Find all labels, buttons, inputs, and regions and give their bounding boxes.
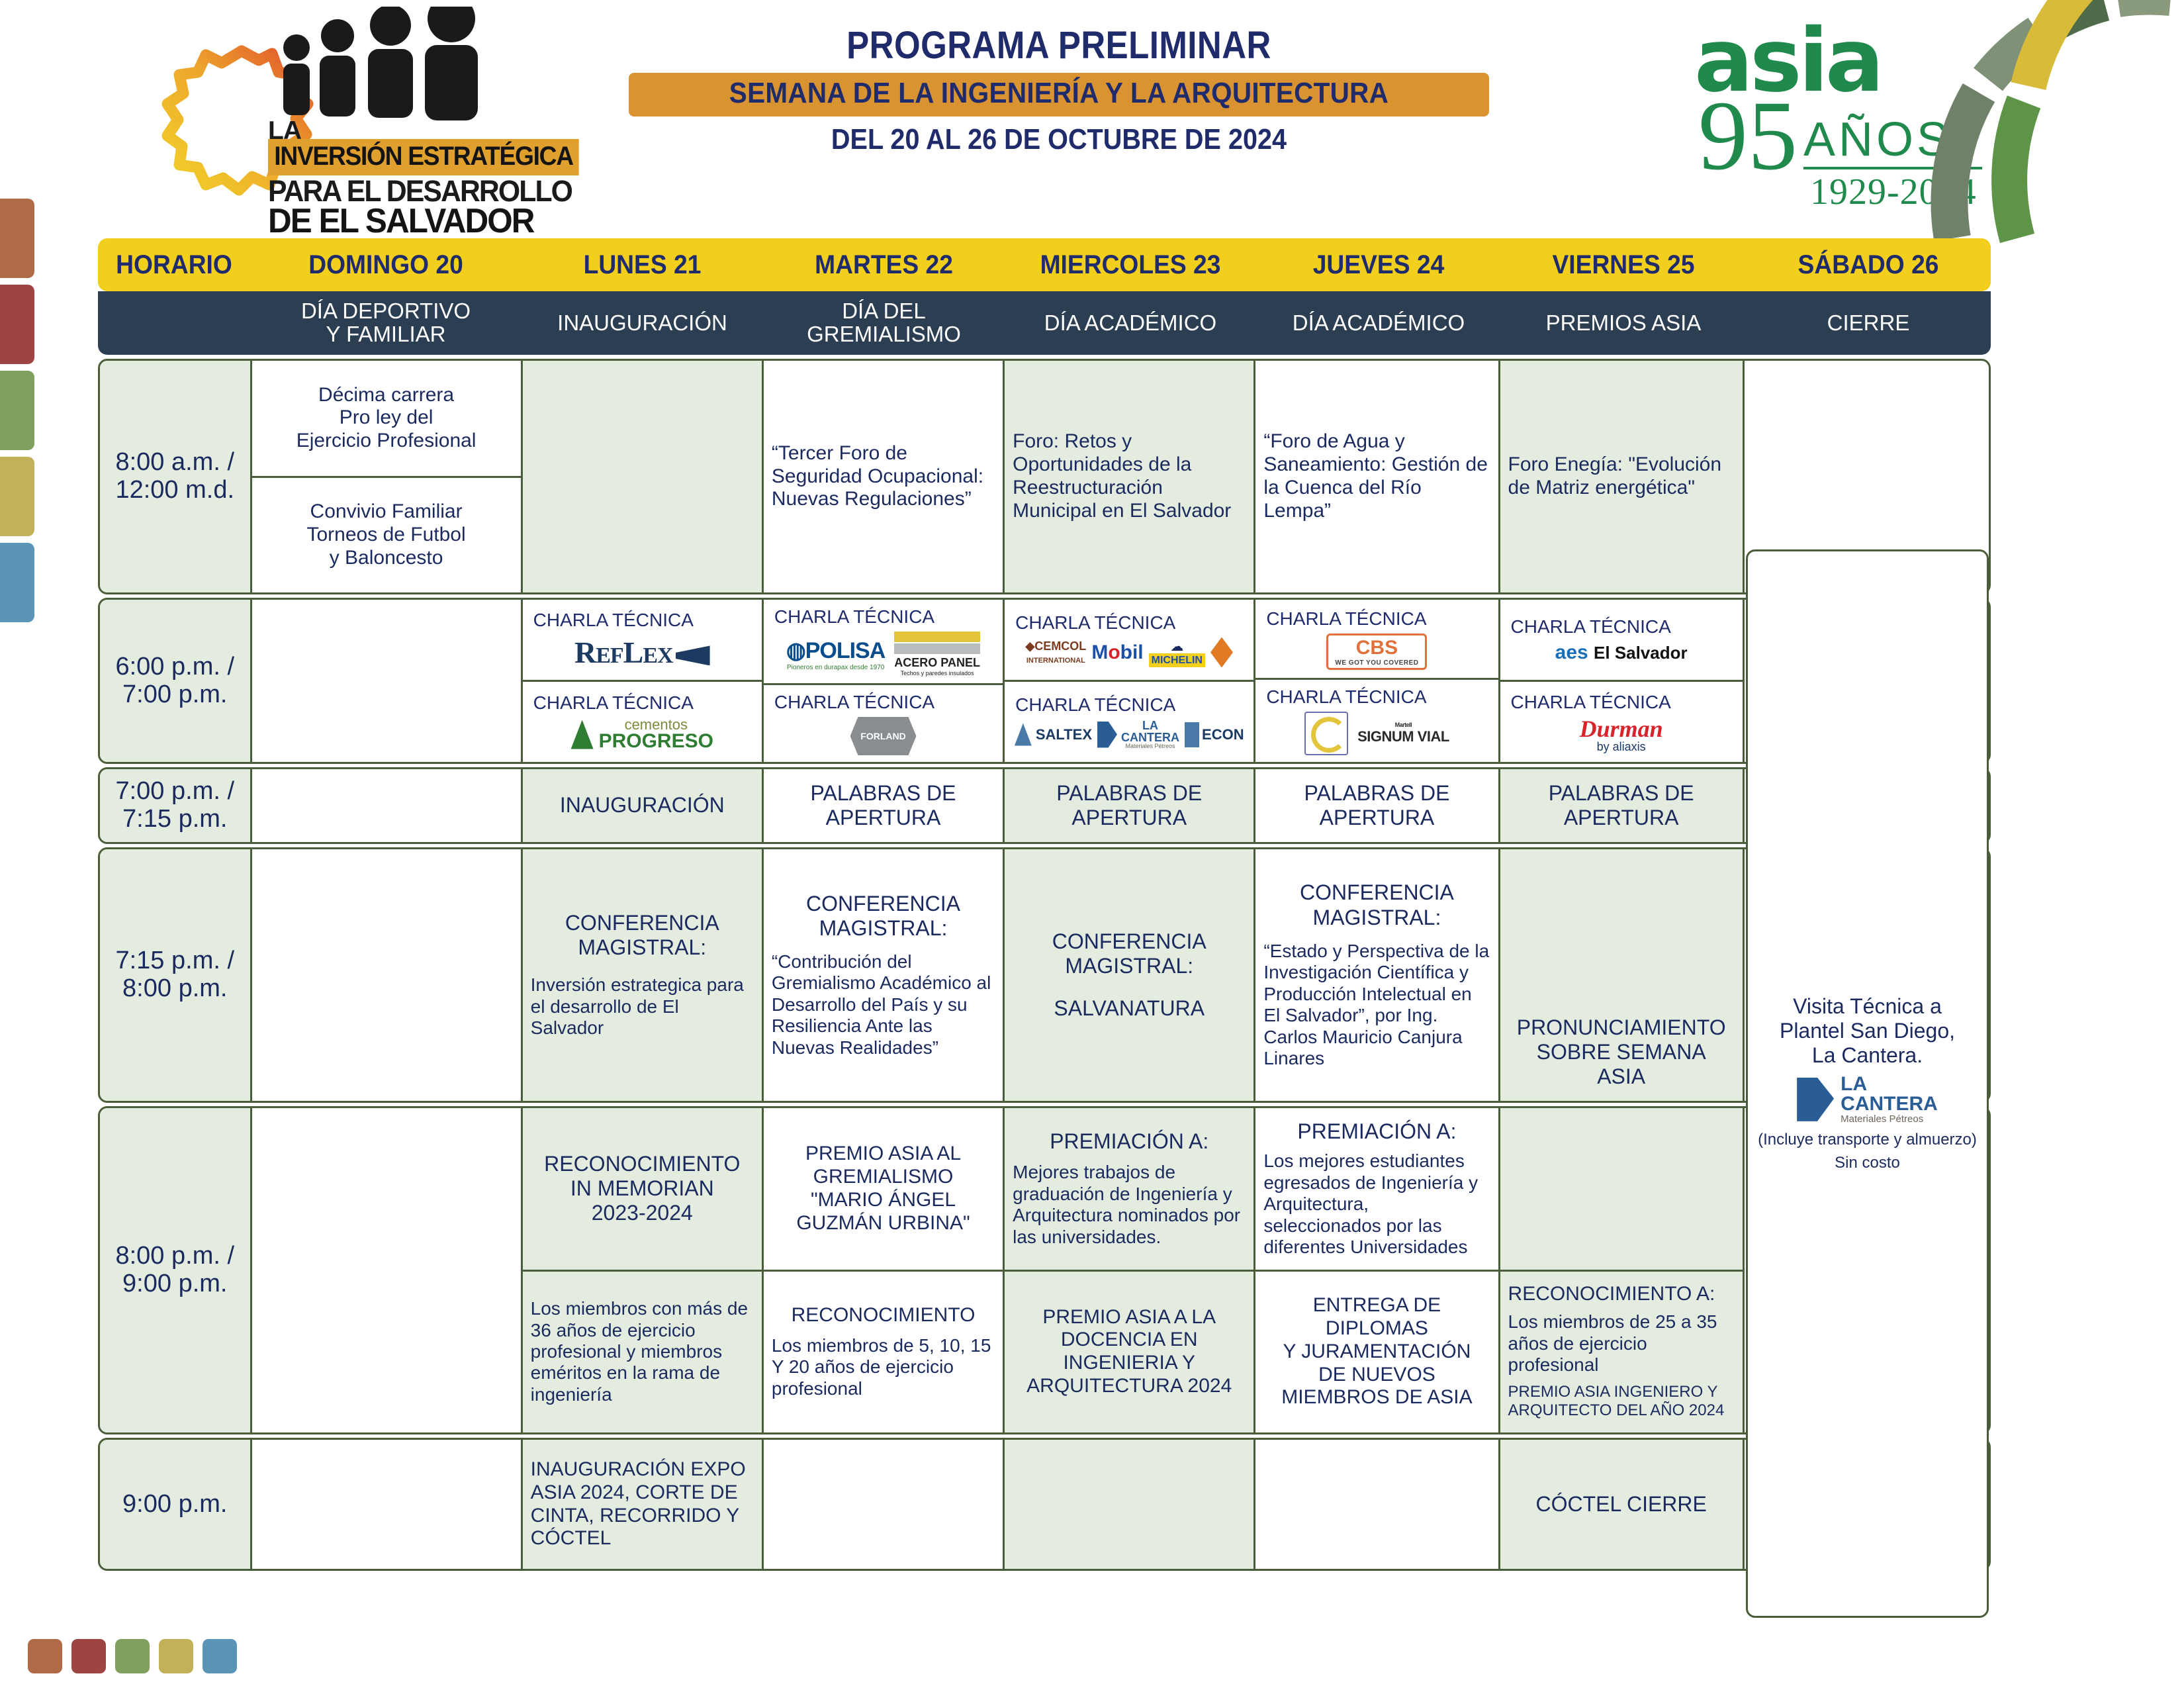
sponsor-logo-michelin: ☁MICHELIN [1149,638,1205,667]
row1-viernes: Foro Enegía: "Evolución de Matriz energé… [1500,361,1745,592]
bottom-swatch-4 [159,1639,193,1673]
row2-lunes-bottom: CHARLA TÉCNICA cementosPROGRESO [523,682,762,762]
sabado-merged-cell: Visita Técnica a Plantel San Diego, La C… [1746,549,1989,1618]
row2-viernes: CHARLA TÉCNICA aes El Salvador CHARLA TÉ… [1500,600,1745,762]
row5-viernes: RECONOCIMIENTO A: Los miembros de 25 a 3… [1500,1108,1745,1432]
col-header-horario: HORARIO [103,250,245,280]
charla-tecnica-label: CHARLA TÉCNICA [1508,616,1735,637]
time-label-row6: 9:00 p.m. [100,1440,252,1569]
row3-miercoles: PALABRAS DEAPERTURA [1005,769,1255,842]
row5-jueves-bottom: ENTREGA DEDIPLOMASY JURAMENTACIÓNDE NUEV… [1255,1272,1498,1433]
row1-martes: “Tercer Foro de Seguridad Ocupacional: N… [764,361,1005,592]
header-subtitle-bar: SEMANA DE LA INGENIERÍA Y LA ARQUITECTUR… [629,73,1489,117]
row5-martes: PREMIO ASIA ALGREMIALISMO"MARIO ÁNGELGUZ… [764,1108,1005,1432]
sabado-note-1: (Incluye transporte y almuerzo) [1758,1131,1977,1150]
table-row: 9:00 p.m. INAUGURACIÓN EXPO ASIA 2024, C… [98,1438,1991,1571]
sponsor-logo-aes-el-salvador: aes El Salvador [1555,641,1688,664]
sponsor-logo-econ: ECON [1185,722,1244,747]
charla-tecnica-label: CHARLA TÉCNICA [772,606,995,628]
row5-jueves-top: PREMIACIÓN A: Los mejores estudiantes eg… [1255,1108,1498,1272]
row4-miercoles: CONFERENCIAMAGISTRAL: SALVANATURA [1005,849,1255,1101]
sabado-note-2: Sin costo [1835,1154,1900,1173]
time-label-row4: 7:15 p.m. /8:00 p.m. [100,849,252,1101]
row5-viernes-top [1500,1108,1743,1272]
theme-viernes: PREMIOS ASIA [1501,312,1746,335]
row3-martes-cell: PALABRAS DEAPERTURA [764,769,1003,842]
sponsor-logo-la-cantera-large: LACANTERAMateriales Pétreos [1797,1074,1938,1124]
row5-jueves: PREMIACIÓN A: Los mejores estudiantes eg… [1255,1108,1500,1432]
time-label-row5: 8:00 p.m. /9:00 p.m. [100,1108,252,1432]
table-row: 7:15 p.m. /8:00 p.m. CONFERENCIAMAGISTRA… [98,847,1991,1103]
table-row: 8:00 a.m. /12:00 m.d. Décima carreraPro … [98,359,1991,594]
theme-sabado: CIERRE [1746,312,1991,335]
sponsor-logo-durman: Durmanby aliaxis [1580,717,1663,753]
row2-lunes: CHARLA TÉCNICA REFLEX CHARLA TÉCNICA cem… [523,600,764,762]
sponsor-logo-reflex: REFLEX [531,635,754,670]
header-dates: DEL 20 AL 26 DE OCTUBRE DE 2024 [672,123,1446,156]
left-color-strip [0,199,34,622]
row5-miercoles-top: PREMIACIÓN A: Mejores trabajos de gradua… [1005,1108,1253,1272]
row2-viernes-bottom: CHARLA TÉCNICA Durmanby aliaxis [1500,682,1743,762]
row5-domingo [252,1108,523,1432]
row5-miercoles-bottom: PREMIO ASIA A LADOCENCIA ENINGENIERIA YA… [1005,1272,1253,1433]
theme-martes: DÍA DELGREMIALISMO [763,300,1005,346]
row2-lunes-top: CHARLA TÉCNICA REFLEX [523,600,762,682]
row2-jueves-top: CHARLA TÉCNICA CBSWE GOT YOU COVERED [1255,600,1498,680]
row2-martes-bottom: CHARLA TÉCNICA FORLAND [764,685,1003,762]
charla-tecnica-label: CHARLA TÉCNICA [1263,686,1490,708]
row2-domingo-cell [252,600,521,762]
col-header-miercoles: MIERCOLES 23 [1013,250,1247,280]
sabado-line-1: Visita Técnica a [1793,994,1942,1019]
charla-tecnica-label: CHARLA TÉCNICA [531,692,754,714]
row4-lunes: CONFERENCIAMAGISTRAL: Inversión estrateg… [523,849,764,1101]
sponsor-logo-diamond [1210,637,1233,668]
campaign-logo: LA INVERSIÓN ESTRATÉGICA PARA EL DESARRO… [142,7,553,225]
row1-lunes-cell [523,361,762,592]
campaign-logo-inversion: INVERSIÓN ESTRATÉGICA [268,139,579,175]
row1-miercoles-cell: Foro: Retos y Oportunidades de la Reestr… [1005,361,1253,592]
bottom-color-swatches [28,1639,237,1673]
sponsor-logo-mobil: Mobil [1091,641,1143,664]
sponsor-logo-la-cantera: LACANTERAMateriales Pétreos [1097,720,1179,749]
row6-viernes-cell: CÓCTEL CIERRE [1500,1440,1743,1569]
bottom-swatch-1 [28,1639,62,1673]
row2-jueves: CHARLA TÉCNICA CBSWE GOT YOU COVERED CHA… [1255,600,1500,762]
charla-tecnica-label: CHARLA TÉCNICA [772,692,995,713]
sponsor-logo-martell [1304,712,1348,755]
col-header-jueves: JUEVES 24 [1265,250,1492,280]
row4-miercoles-cell: CONFERENCIAMAGISTRAL: SALVANATURA [1005,849,1253,1101]
col-header-sabado: SÁBADO 26 [1754,250,1982,280]
row1-domingo-bottom: Convivio FamiliarTorneos de Futboly Balo… [252,478,521,593]
row5-martes-top: PREMIO ASIA ALGREMIALISMO"MARIO ÁNGELGUZ… [764,1108,1003,1272]
row3-jueves-cell: PALABRAS DEAPERTURA [1255,769,1498,842]
theme-domingo: DÍA DEPORTIVOY FAMILIAR [250,300,522,346]
row4-martes-cell: CONFERENCIAMAGISTRAL: “Contribución del … [764,849,1003,1101]
theme-miercoles: DÍA ACADÉMICO [1005,312,1256,335]
table-row: 7:00 p.m. /7:15 p.m. INAUGURACIÓN PALABR… [98,767,1991,844]
col-header-domingo: DOMINGO 20 [259,250,512,280]
row5-lunes-top: RECONOCIMIENTOIN MEMORIAN2023-2024 [523,1108,762,1272]
theme-jueves: DÍA ACADÉMICO [1256,312,1501,335]
time-label-row2: 6:00 p.m. /7:00 p.m. [100,600,252,762]
sponsor-logo-signum-vial: MartellSIGNUM VIAL [1357,722,1449,745]
sponsor-logo-forland: FORLAND [850,717,917,755]
row4-domingo [252,849,523,1101]
charla-tecnica-label: CHARLA TÉCNICA [1263,608,1490,630]
row3-lunes: INAUGURACIÓN [523,769,764,842]
arc-decoration-bottom-icon [1906,0,2184,245]
theme-lunes: INAUGURACIÓN [522,312,763,335]
col-header-martes: MARTES 22 [772,250,996,280]
row4-lunes-cell: CONFERENCIAMAGISTRAL: Inversión estrateg… [523,849,762,1101]
charla-tecnica-label: CHARLA TÉCNICA [1508,692,1735,713]
bottom-swatch-5 [203,1639,237,1673]
page-header: LA INVERSIÓN ESTRATÉGICA PARA EL DESARRO… [0,0,2184,238]
sponsor-logo-polisa: ◍POLISAPioneros en durapax desde 1970 [786,637,885,671]
row3-lunes-cell: INAUGURACIÓN [523,769,762,842]
row4-viernes-cell: PRONUNCIAMIENTOSOBRE SEMANAASIA [1500,849,1743,1101]
row5-viernes-bottom: RECONOCIMIENTO A: Los miembros de 25 a 3… [1500,1272,1743,1433]
left-swatch-3 [0,371,34,450]
table-row: 8:00 p.m. /9:00 p.m. RECONOCIMIENTOIN ME… [98,1106,1991,1434]
row5-miercoles: PREMIACIÓN A: Mejores trabajos de gradua… [1005,1108,1255,1432]
col-header-lunes: LUNES 21 [530,250,754,280]
row4-jueves-cell: CONFERENCIAMAGISTRAL: “Estado y Perspect… [1255,849,1498,1101]
row2-jueves-bottom: CHARLA TÉCNICA MartellSIGNUM VIAL [1255,680,1498,762]
row4-jueves: CONFERENCIAMAGISTRAL: “Estado y Perspect… [1255,849,1500,1101]
charla-tecnica-label: CHARLA TÉCNICA [531,610,754,631]
row1-domingo: Décima carreraPro ley delEjercicio Profe… [252,361,523,592]
schedule-table: HORARIO DOMINGO 20 LUNES 21 MARTES 22 MI… [98,238,1991,1574]
table-row: 6:00 p.m. /7:00 p.m. CHARLA TÉCNICA REFL… [98,598,1991,764]
bottom-swatch-2 [71,1639,106,1673]
row6-domingo [252,1440,523,1569]
sponsor-logo-cementos-progreso: cementosPROGRESO [531,718,754,751]
row2-martes: CHARLA TÉCNICA ◍POLISAPioneros en durapa… [764,600,1005,762]
row5-lunes-bottom: Los miembros con más de 36 años de ejerc… [523,1272,762,1433]
table-header-themes: DÍA DEPORTIVOY FAMILIAR INAUGURACIÓN DÍA… [98,291,1991,355]
header-subtitle: SEMANA DE LA INGENIERÍA Y LA ARQUITECTUR… [663,77,1455,110]
row1-miercoles: Foro: Retos y Oportunidades de la Reestr… [1005,361,1255,592]
charla-tecnica-label: CHARLA TÉCNICA [1013,612,1246,633]
row2-martes-top: CHARLA TÉCNICA ◍POLISAPioneros en durapa… [764,600,1003,685]
row5-lunes: RECONOCIMIENTOIN MEMORIAN2023-2024 Los m… [523,1108,764,1432]
row4-viernes: PRONUNCIAMIENTOSOBRE SEMANAASIA [1500,849,1745,1101]
left-swatch-5 [0,543,34,622]
sponsor-logo-cbs: CBSWE GOT YOU COVERED [1326,633,1427,670]
row2-miercoles-bottom: CHARLA TÉCNICA SALTEX LACANTERAMateriale… [1005,682,1253,762]
bottom-swatch-3 [115,1639,150,1673]
sponsor-logo-saltex: SALTEX [1015,724,1092,746]
row2-miercoles-top: CHARLA TÉCNICA ◆CEMCOLINTERNATIONAL Mobi… [1005,600,1253,682]
row3-miercoles-cell: PALABRAS DEAPERTURA [1005,769,1253,842]
row1-martes-cell: “Tercer Foro de Seguridad Ocupacional: N… [764,361,1003,592]
charla-tecnica-label: CHARLA TÉCNICA [1013,694,1246,716]
header-title-block: PROGRAMA PRELIMINAR SEMANA DE LA INGENIE… [629,23,1489,156]
row6-lunes: INAUGURACIÓN EXPO ASIA 2024, CORTE DE CI… [523,1440,764,1569]
time-label-row3: 7:00 p.m. /7:15 p.m. [100,769,252,842]
campaign-logo-de-el-salvador: DE EL SALVADOR [268,201,534,241]
row5-martes-bottom: RECONOCIMIENTO Los miembros de 5, 10, 15… [764,1272,1003,1433]
row6-viernes: CÓCTEL CIERRE [1500,1440,1745,1569]
row6-miercoles [1005,1440,1255,1569]
time-label-row1: 8:00 a.m. /12:00 m.d. [100,361,252,592]
row3-martes: PALABRAS DEAPERTURA [764,769,1005,842]
row4-martes: CONFERENCIAMAGISTRAL: “Contribución del … [764,849,1005,1101]
left-swatch-4 [0,457,34,536]
row1-lunes [523,361,764,592]
row1-jueves: “Foro de Agua y Saneamiento: Gestión de … [1255,361,1500,592]
row1-viernes-cell: Foro Enegía: "Evolución de Matriz energé… [1500,361,1743,592]
row2-miercoles: CHARLA TÉCNICA ◆CEMCOLINTERNATIONAL Mobi… [1005,600,1255,762]
people-group-icon [271,7,490,126]
row6-jueves [1255,1440,1500,1569]
row1-jueves-cell: “Foro de Agua y Saneamiento: Gestión de … [1255,361,1498,592]
row2-domingo [252,600,523,762]
row6-martes [764,1440,1005,1569]
table-header-days: HORARIO DOMINGO 20 LUNES 21 MARTES 22 MI… [98,238,1991,291]
row3-domingo [252,769,523,842]
page-title: PROGRAMA PRELIMINAR [680,23,1437,68]
row1-domingo-top: Décima carreraPro ley delEjercicio Profe… [252,361,521,478]
col-header-viernes: VIERNES 25 [1510,250,1737,280]
sponsor-logo-acero-panel: ACERO PANELTechos y paredes insulados [894,632,980,677]
row2-viernes-top: CHARLA TÉCNICA aes El Salvador [1500,600,1743,682]
row3-viernes: PALABRAS DEAPERTURA [1500,769,1745,842]
asia-logo-number: 95 [1698,96,1797,175]
row3-jueves: PALABRAS DEAPERTURA [1255,769,1500,842]
sabado-line-2: Plantel San Diego, [1780,1019,1955,1043]
sponsor-logo-cemcol: ◆CEMCOLINTERNATIONAL [1025,640,1086,665]
row3-viernes-cell: PALABRAS DEAPERTURA [1500,769,1743,842]
left-swatch-2 [0,285,34,364]
row6-lunes-cell: INAUGURACIÓN EXPO ASIA 2024, CORTE DE CI… [523,1440,762,1569]
sabado-line-3: La Cantera. [1812,1043,1923,1068]
